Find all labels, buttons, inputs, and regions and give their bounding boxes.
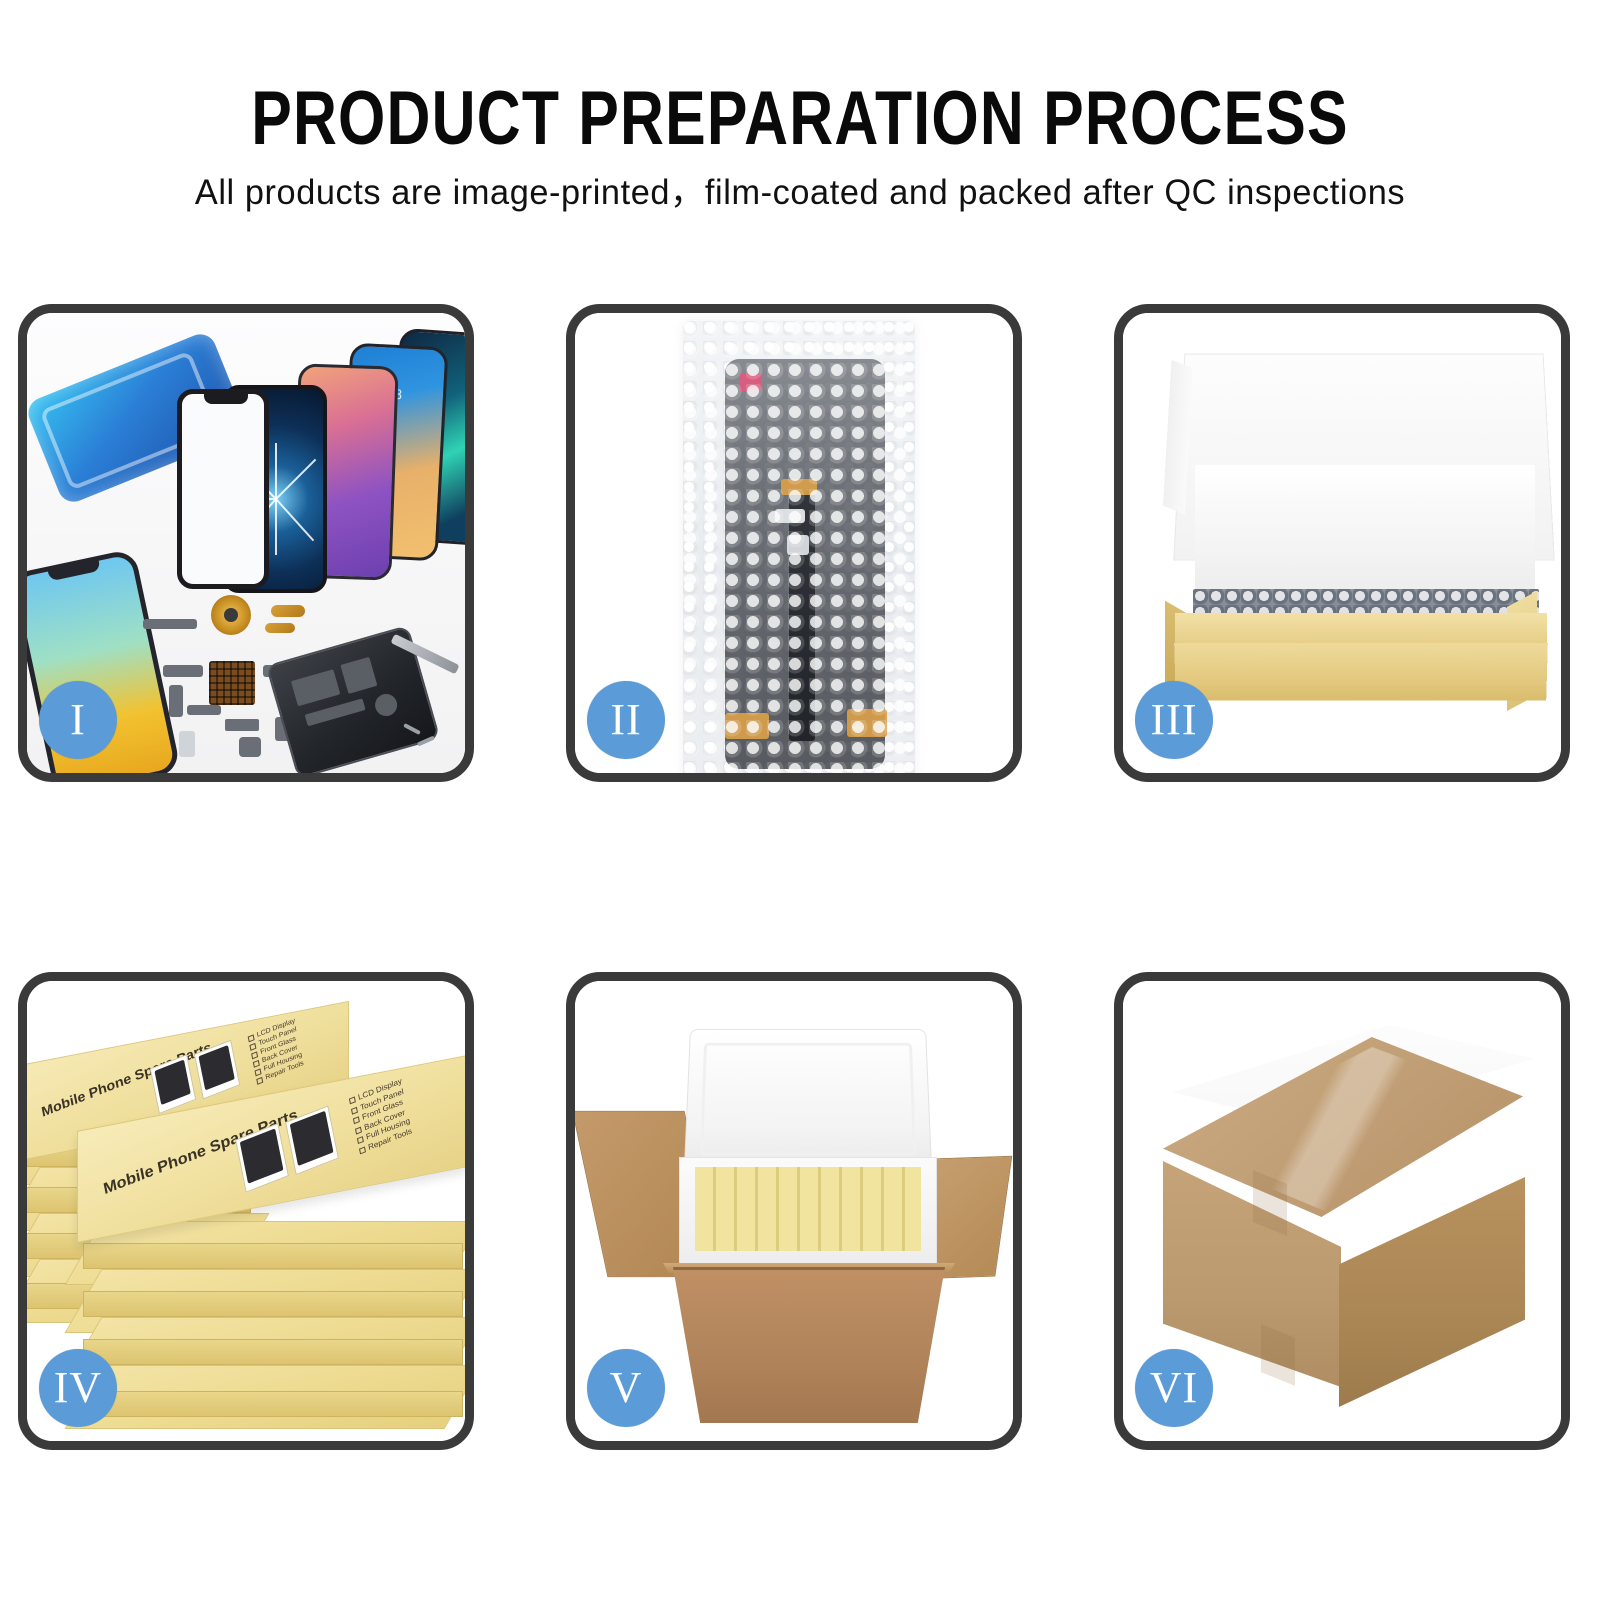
box-checklist: LCD Display Touch Panel Front Glass Back… (348, 1076, 413, 1156)
screwdriver-icon (403, 727, 449, 749)
pink-label-icon (739, 373, 761, 391)
sim-tray-icon (179, 731, 195, 757)
carton-front-panel (673, 1267, 945, 1423)
styrofoam-lid-icon (684, 1029, 932, 1171)
box-checklist: LCD Display Touch Panel Front Glass Back… (247, 1016, 304, 1085)
flex-cable-icon (265, 623, 295, 633)
step-badge-6: VI (1135, 1349, 1213, 1427)
step-panel-5: V (566, 972, 1022, 1450)
small-part-icon (169, 685, 183, 717)
small-part-icon (225, 719, 259, 731)
step-badge-5: V (587, 1349, 665, 1427)
step-badge-4: IV (39, 1349, 117, 1427)
connector-icon (847, 709, 887, 737)
step-badge-1: I (39, 681, 117, 759)
box-rim (1175, 613, 1547, 647)
small-part-icon (163, 665, 203, 677)
step-badge-3: III (1135, 681, 1213, 759)
wireless-charging-coil-icon (211, 595, 251, 635)
speaker-mesh-icon (143, 619, 197, 629)
step-panel-2: II (566, 304, 1022, 782)
carton-right-panel (1339, 1177, 1525, 1407)
retail-box (83, 1365, 463, 1417)
step-panel-4: Mobile Phone Spare Parts LCD Display Tou… (18, 972, 474, 1450)
step-panel-6: VI (1114, 972, 1570, 1450)
packed-retail-boxes (695, 1167, 921, 1251)
retail-box (83, 1317, 463, 1365)
step-panel-3: III (1114, 304, 1570, 782)
flex-cable-icon (271, 605, 305, 617)
front-glass-icon (177, 389, 269, 589)
box-front-panel (1174, 643, 1548, 701)
connector-icon (725, 713, 769, 739)
foam-sheet-icon (1195, 465, 1535, 603)
process-steps-grid: 08:08 (0, 0, 1600, 1600)
small-part-icon (187, 705, 221, 715)
connector-icon (781, 479, 817, 495)
camera-module-icon (239, 737, 261, 757)
step-badge-2: II (587, 681, 665, 759)
flex-cable-icon (789, 491, 815, 741)
infographic-page: PRODUCT PREPARATION PROCESS All products… (0, 0, 1600, 1600)
connector-icon (775, 509, 805, 523)
step-panel-1: 08:08 (18, 304, 474, 782)
ic-chip-icon (209, 661, 255, 705)
retail-box (83, 1269, 463, 1317)
connector-icon (787, 535, 809, 555)
